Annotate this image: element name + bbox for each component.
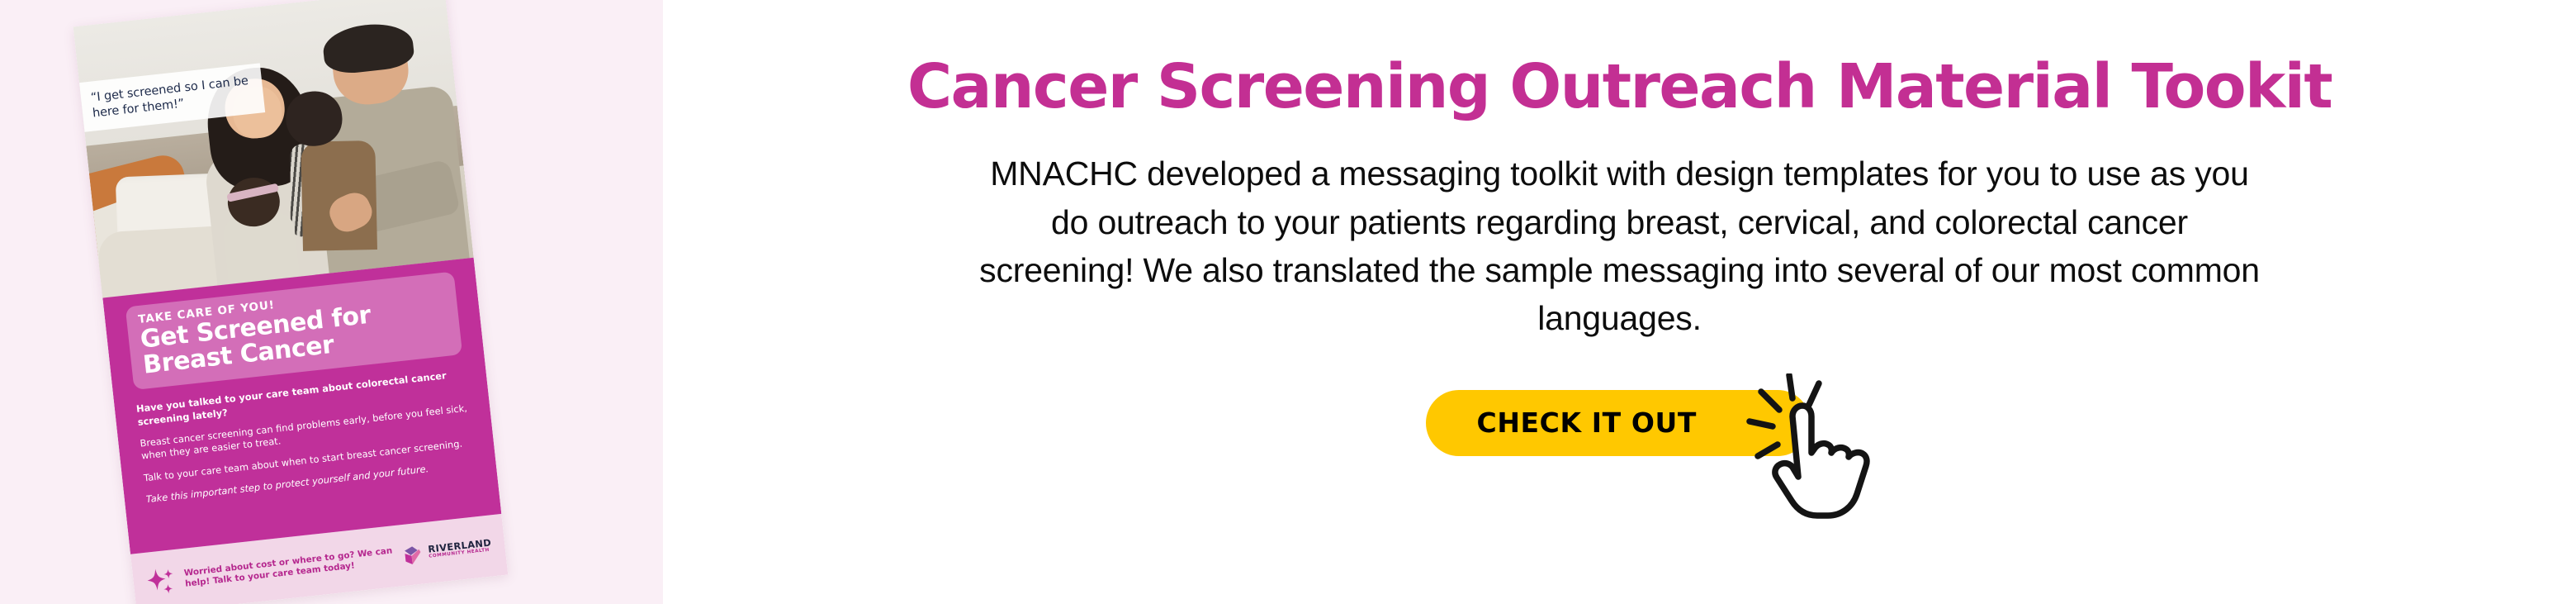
description-text: MNACHC developed a messaging toolkit wit… — [976, 150, 2264, 342]
poster-photo: “I get screened so I can be here for the… — [73, 0, 474, 298]
cta-container: CHECK IT OUT — [1426, 380, 1814, 512]
riverland-logo-mark-icon — [402, 542, 426, 566]
screening-poster-image: “I get screened so I can be here for the… — [73, 0, 509, 604]
check-it-out-button[interactable]: CHECK IT OUT — [1426, 390, 1811, 456]
page-title: Cancer Screening Outreach Material Tooki… — [907, 56, 2332, 118]
poster-headline-badge: TAKE CARE OF YOU! Get Screened for Breas… — [125, 271, 463, 390]
content-panel: Cancer Screening Outreach Material Tooki… — [663, 0, 2576, 604]
riverland-logo: RIVERLAND COMMUNITY HEALTH — [402, 535, 493, 567]
logo-text: RIVERLAND COMMUNITY HEALTH — [428, 539, 493, 560]
sparkle-icon — [144, 564, 180, 600]
poster-body: TAKE CARE OF YOU! Get Screened for Breas… — [102, 258, 501, 554]
poster-panel: “I get screened so I can be here for the… — [0, 0, 663, 604]
photo-toddler-body — [301, 140, 377, 251]
promo-banner: “I get screened so I can be here for the… — [0, 0, 2576, 604]
poster-footer-text: Worried about cost or where to go? We ca… — [183, 545, 397, 590]
